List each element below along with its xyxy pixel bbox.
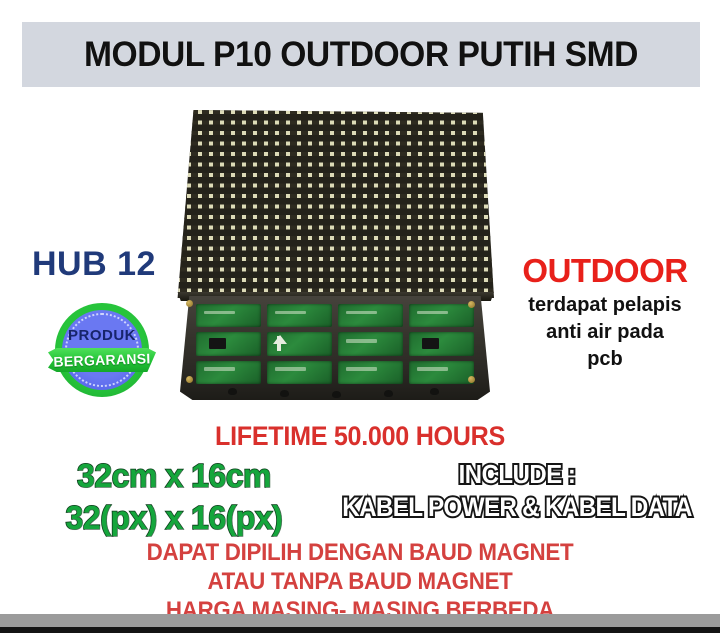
outdoor-description-line: anti air pada <box>498 319 712 346</box>
include-items: KABEL POWER & KABEL DATA <box>338 490 696 524</box>
note-line: ATAU TANPA BAUD MAGNET <box>25 567 695 596</box>
dimensions-block: 32cm x 16cm 32(px) x 16(px) <box>24 455 324 539</box>
footer-gray-band <box>0 614 720 627</box>
frame-foot <box>280 390 289 397</box>
frame-foot <box>332 391 341 398</box>
pcb-cell-grid <box>194 302 476 386</box>
frame-foot <box>228 388 237 395</box>
outdoor-description-line: pcb <box>498 346 712 373</box>
led-dot-matrix-panel <box>176 110 494 298</box>
frame-foot <box>384 390 393 397</box>
frame-screw <box>186 376 193 383</box>
hub-label: HUB 12 <box>32 245 156 284</box>
frame-screw <box>468 301 475 308</box>
outdoor-description-line: terdapat pelapis <box>498 292 712 319</box>
product-poster: MODUL P10 OUTDOOR PUTIH SMD <box>0 0 720 633</box>
outdoor-description: terdapat pelapis anti air pada pcb <box>498 292 712 373</box>
footer-dark-band <box>0 627 720 633</box>
frame-screw <box>468 376 475 383</box>
page-title: MODUL P10 OUTDOOR PUTIH SMD <box>36 22 687 87</box>
pcb-cell <box>338 361 403 384</box>
include-block: INCLUDE : KABEL POWER & KABEL DATA <box>318 458 716 524</box>
frame-screw <box>186 300 193 307</box>
lifetime-text: LIFETIME 50.000 HOURS <box>25 421 695 452</box>
pcb-cell <box>409 361 474 384</box>
pcb-cell <box>196 304 261 327</box>
badge-ribbon-text: BERGARANSI <box>48 346 157 374</box>
pcb-cell <box>338 304 403 327</box>
frame-foot <box>430 388 439 395</box>
dimension-line-px: 32(px) x 16(px) <box>29 497 320 539</box>
pcb-cell <box>196 332 261 355</box>
pcb-cell <box>409 304 474 327</box>
bottom-notes: DAPAT DIPILIH DENGAN BAUD MAGNET ATAU TA… <box>0 538 720 625</box>
warranty-badge: PRODUK BERGARANSI <box>48 300 156 400</box>
pcb-cell <box>196 361 261 384</box>
include-heading: INCLUDE : <box>334 458 700 490</box>
dimension-line-cm: 32cm x 16cm <box>29 455 320 497</box>
pcb-cell <box>267 304 332 327</box>
pcb-cell-arrow <box>267 332 332 355</box>
pcb-cell <box>338 332 403 355</box>
outdoor-heading: OUTDOOR <box>500 252 710 290</box>
pcb-cell <box>409 332 474 355</box>
header-band: MODUL P10 OUTDOOR PUTIH SMD <box>22 22 700 87</box>
pcb-cell <box>267 361 332 384</box>
badge-top-text: PRODUK <box>48 327 156 344</box>
p10-led-module-photo <box>168 110 500 400</box>
note-line: DAPAT DIPILIH DENGAN BAUD MAGNET <box>25 538 695 567</box>
